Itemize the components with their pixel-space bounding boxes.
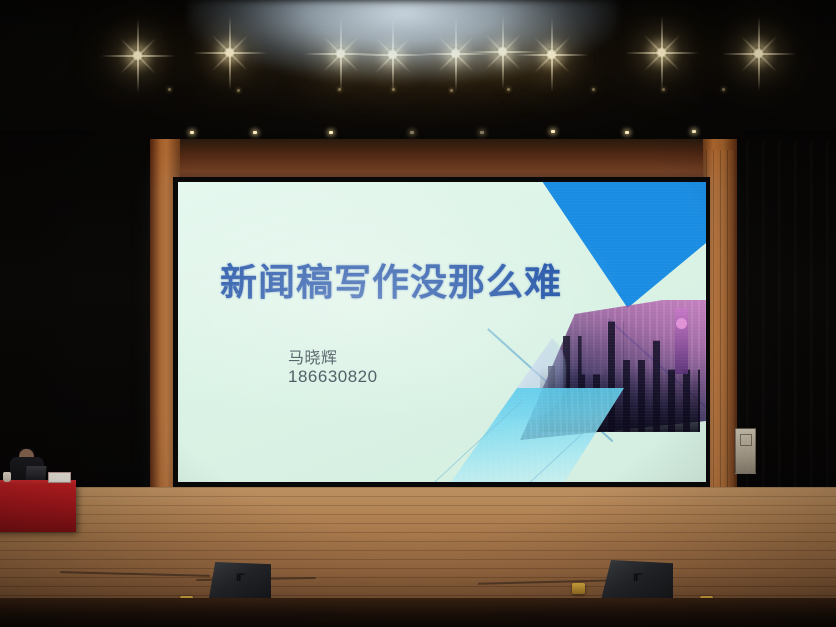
ceiling-spotlight-icon	[131, 49, 144, 62]
name-placard	[48, 472, 71, 483]
dim-ceiling-dot-icon	[168, 88, 171, 91]
ceiling-downlight-icon	[253, 131, 257, 134]
stage-front-edge	[0, 598, 836, 627]
ceiling-downlight-icon	[410, 131, 414, 134]
ceiling-downlight-icon	[329, 131, 333, 134]
proscenium-ribs	[706, 150, 734, 505]
slide-title: 新闻稿写作没那么难	[220, 252, 562, 306]
ceiling-spotlight-icon	[655, 46, 668, 59]
projection-screen: 新闻稿写作没那么难 马晓辉 186630820	[178, 182, 706, 482]
stage-floor-box	[572, 583, 585, 594]
monitor-grille-icon: ΙΓ	[633, 572, 641, 584]
laptop-icon	[26, 466, 47, 480]
ceiling-downlight-icon	[551, 130, 555, 133]
ceiling-downlight-icon	[480, 131, 484, 134]
ceiling-downlight-icon	[190, 131, 194, 134]
tv-tower-icon	[675, 308, 688, 374]
slide-contact-number: 186630820	[288, 367, 378, 387]
ceiling-downlight-icon	[692, 130, 696, 133]
screen-light-reflection	[188, 0, 618, 108]
ceiling-spotlight-icon	[752, 47, 765, 60]
floor-monitor-left: ΙΓ	[209, 562, 271, 598]
monitor-grille-icon: ΙΓ	[236, 572, 244, 584]
auditorium-stage-photo: 新闻稿写作没那么难 马晓辉 186630820 ΙΓ ΙΓ	[0, 0, 836, 627]
dim-ceiling-dot-icon	[662, 88, 665, 91]
paper-cup-icon	[3, 472, 11, 482]
presenter-table-skirt	[0, 484, 76, 532]
slide-presenter-name: 马晓辉	[288, 344, 338, 368]
name-placard-text	[49, 473, 70, 482]
dim-ceiling-dot-icon	[722, 88, 725, 91]
floor-monitor-right: ΙΓ	[601, 560, 673, 600]
ceiling-downlight-icon	[625, 131, 629, 134]
wall-access-panel	[735, 428, 756, 474]
